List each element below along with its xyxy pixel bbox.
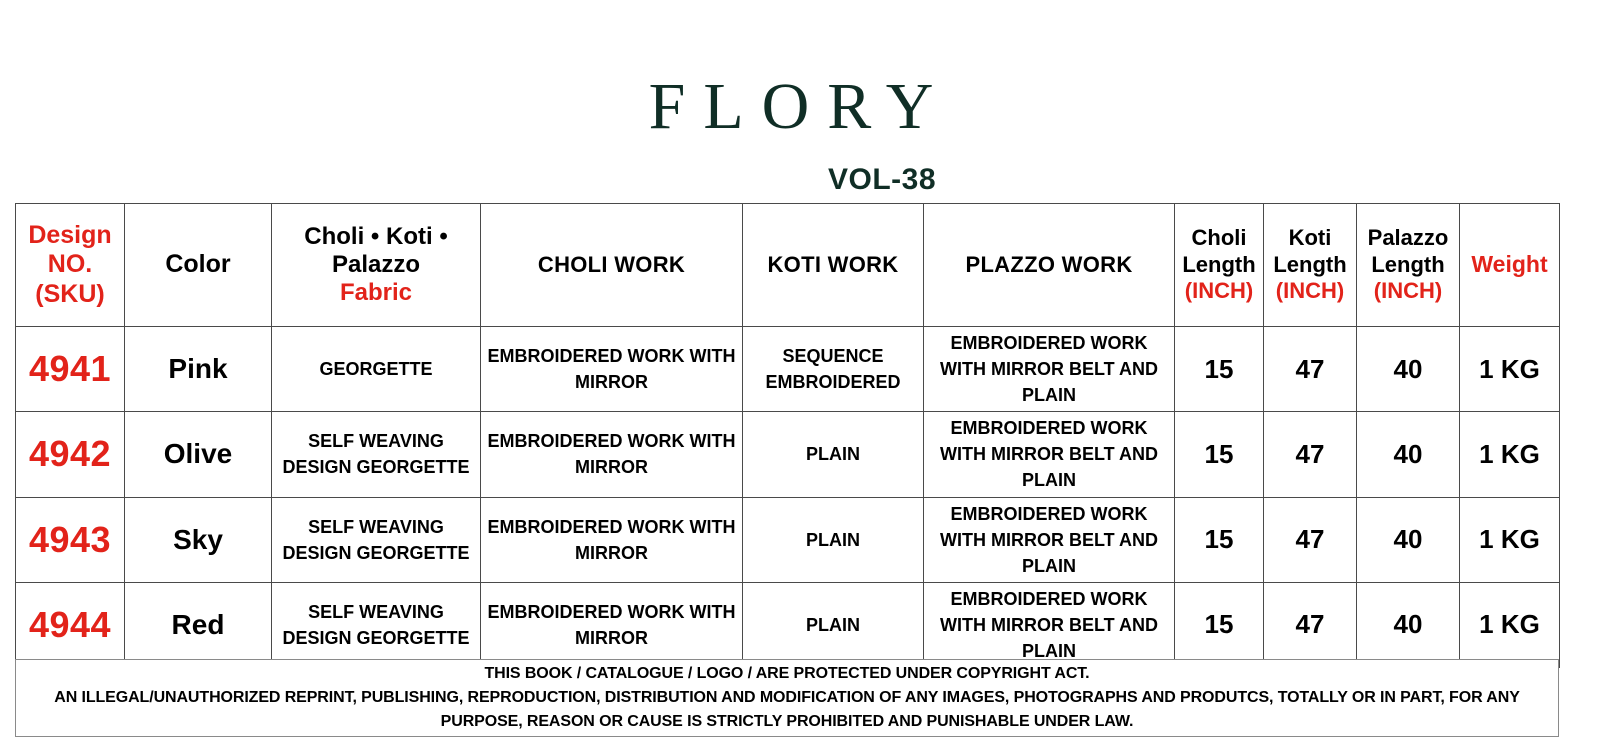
- catalogue-table-container: Design NO. (SKU) Color Choli • Koti • Pa…: [15, 203, 1559, 668]
- header-color: Color: [125, 204, 272, 327]
- cell-weight: 1 KG: [1460, 497, 1560, 582]
- header-koti-length: Koti Length (INCH): [1264, 204, 1357, 327]
- cell-palazzo-length: 40: [1357, 412, 1460, 497]
- brand-logo: Flory: [0, 50, 1600, 144]
- cell-fabric: SELF WEAVING DESIGN GEORGETTE: [272, 582, 481, 667]
- header-weight: Weight: [1460, 204, 1560, 327]
- cell-choli-length: 15: [1175, 497, 1264, 582]
- cell-sku: 4942: [16, 412, 125, 497]
- header-koti-work: KOTI WORK: [743, 204, 924, 327]
- volume-label: VOL-38: [828, 163, 936, 197]
- cell-color: Olive: [125, 412, 272, 497]
- table-row: 4943 Sky SELF WEAVING DESIGN GEORGETTE E…: [16, 497, 1560, 582]
- cell-choli-work: EMBROIDERED WORK WITH MIRROR: [481, 412, 743, 497]
- copyright-line-2: AN ILLEGAL/UNAUTHORIZED REPRINT, PUBLISH…: [54, 686, 1520, 710]
- cell-koti-length: 47: [1264, 497, 1357, 582]
- cell-koti-length: 47: [1264, 412, 1357, 497]
- brand-header: Flory VOL-38: [0, 0, 1600, 200]
- cell-plazzo-work: EMBROIDERED WORK WITH MIRROR BELT AND PL…: [924, 327, 1175, 412]
- header-plazzo-work: PLAZZO WORK: [924, 204, 1175, 327]
- cell-color: Sky: [125, 497, 272, 582]
- header-palazzo-length: Palazzo Length (INCH): [1357, 204, 1460, 327]
- cell-palazzo-length: 40: [1357, 327, 1460, 412]
- header-choli-work: CHOLI WORK: [481, 204, 743, 327]
- cell-choli-length: 15: [1175, 327, 1264, 412]
- cell-koti-work: PLAIN: [743, 497, 924, 582]
- header-fabric-sub: Fabric: [276, 279, 476, 307]
- header-koti-length-label: Koti Length: [1273, 225, 1346, 276]
- cell-color: Pink: [125, 327, 272, 412]
- header-choli-length-label: Choli Length: [1182, 225, 1255, 276]
- cell-choli-work: EMBROIDERED WORK WITH MIRROR: [481, 582, 743, 667]
- table-row: 4942 Olive SELF WEAVING DESIGN GEORGETTE…: [16, 412, 1560, 497]
- header-palazzo-length-unit: (INCH): [1361, 278, 1455, 304]
- cell-palazzo-length: 40: [1357, 582, 1460, 667]
- cell-fabric: SELF WEAVING DESIGN GEORGETTE: [272, 497, 481, 582]
- cell-fabric: SELF WEAVING DESIGN GEORGETTE: [272, 412, 481, 497]
- header-koti-length-unit: (INCH): [1268, 278, 1352, 304]
- header-choli-length-unit: (INCH): [1179, 278, 1259, 304]
- cell-koti-work: PLAIN: [743, 412, 924, 497]
- cell-color: Red: [125, 582, 272, 667]
- table-row: 4944 Red SELF WEAVING DESIGN GEORGETTE E…: [16, 582, 1560, 667]
- copyright-line-1: THIS BOOK / CATALOGUE / LOGO / ARE PROTE…: [484, 662, 1089, 686]
- copyright-notice: THIS BOOK / CATALOGUE / LOGO / ARE PROTE…: [15, 659, 1559, 737]
- cell-sku: 4943: [16, 497, 125, 582]
- cell-koti-length: 47: [1264, 582, 1357, 667]
- cell-choli-length: 15: [1175, 412, 1264, 497]
- cell-koti-length: 47: [1264, 327, 1357, 412]
- header-choli-length: Choli Length (INCH): [1175, 204, 1264, 327]
- catalogue-table: Design NO. (SKU) Color Choli • Koti • Pa…: [15, 203, 1560, 668]
- cell-fabric: GEORGETTE: [272, 327, 481, 412]
- cell-choli-work: EMBROIDERED WORK WITH MIRROR: [481, 327, 743, 412]
- cell-sku: 4941: [16, 327, 125, 412]
- cell-choli-work: EMBROIDERED WORK WITH MIRROR: [481, 497, 743, 582]
- cell-weight: 1 KG: [1460, 582, 1560, 667]
- header-fabric-main: Choli • Koti • Palazzo: [304, 223, 447, 278]
- cell-weight: 1 KG: [1460, 327, 1560, 412]
- copyright-line-3: PURPOSE, REASON OR CAUSE IS STRICTLY PRO…: [441, 710, 1134, 734]
- table-row: 4941 Pink GEORGETTE EMBROIDERED WORK WIT…: [16, 327, 1560, 412]
- table-header-row: Design NO. (SKU) Color Choli • Koti • Pa…: [16, 204, 1560, 327]
- cell-plazzo-work: EMBROIDERED WORK WITH MIRROR BELT AND PL…: [924, 497, 1175, 582]
- cell-choli-length: 15: [1175, 582, 1264, 667]
- header-design-no: Design NO. (SKU): [16, 204, 125, 327]
- header-palazzo-length-label: Palazzo Length: [1368, 225, 1449, 276]
- cell-koti-work: PLAIN: [743, 582, 924, 667]
- cell-plazzo-work: EMBROIDERED WORK WITH MIRROR BELT AND PL…: [924, 582, 1175, 667]
- cell-palazzo-length: 40: [1357, 497, 1460, 582]
- cell-plazzo-work: EMBROIDERED WORK WITH MIRROR BELT AND PL…: [924, 412, 1175, 497]
- cell-koti-work: SEQUENCE EMBROIDERED: [743, 327, 924, 412]
- cell-weight: 1 KG: [1460, 412, 1560, 497]
- header-fabric: Choli • Koti • Palazzo Fabric: [272, 204, 481, 327]
- cell-sku: 4944: [16, 582, 125, 667]
- table-body: 4941 Pink GEORGETTE EMBROIDERED WORK WIT…: [16, 327, 1560, 668]
